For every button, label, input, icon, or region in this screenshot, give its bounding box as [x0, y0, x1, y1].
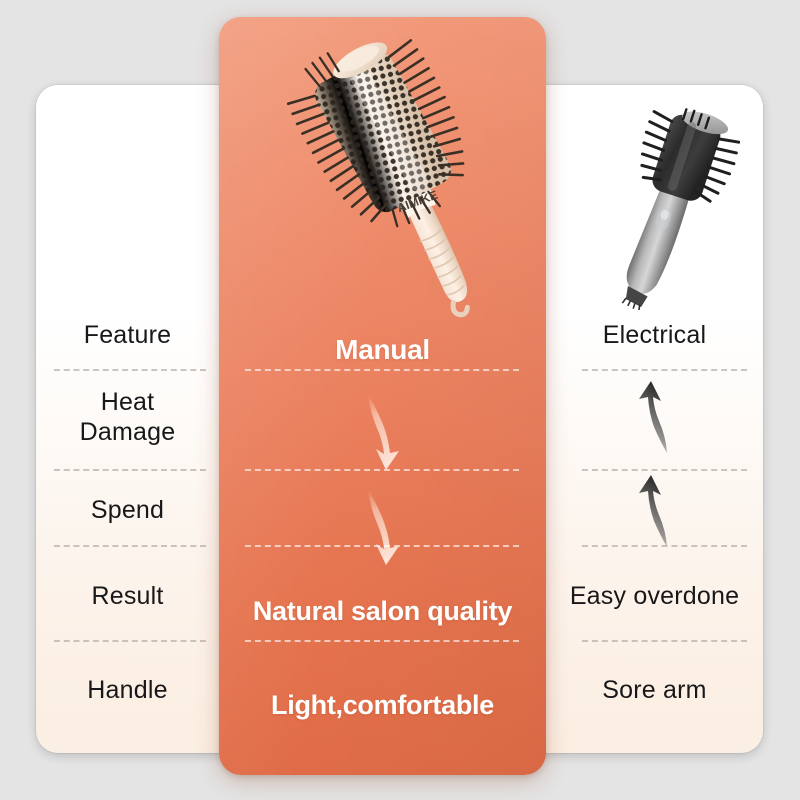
- round-thermal-hair-brush-image: AIMIKE: [281, 17, 521, 327]
- separator-right-4: [582, 640, 747, 642]
- separator-left-2: [54, 469, 206, 471]
- separator-left-3: [54, 545, 206, 547]
- arrow-up-icon-heat-damage: [546, 377, 763, 457]
- row-value-center-result: Natural salon quality: [219, 586, 546, 636]
- row-value-center-handle: Light,comfortable: [219, 680, 546, 730]
- separator-center-3: [245, 545, 519, 547]
- row-value-right-handle: Sore arm: [546, 665, 763, 715]
- row-label-result: Result: [36, 571, 219, 621]
- electric-hot-air-brush-image: [600, 95, 740, 310]
- row-value-center-feature: Manual: [219, 320, 546, 380]
- row-label-heat-damage: Heat Damage: [36, 377, 219, 457]
- row-label-feature: Feature: [36, 305, 219, 365]
- comparison-infographic: Feature Heat Damage Spend Result Handle …: [0, 0, 800, 800]
- separator-left-4: [54, 640, 206, 642]
- separator-right-2: [582, 469, 747, 471]
- arrow-down-icon-spend: [219, 487, 546, 567]
- row-value-right-feature: Electrical: [546, 305, 763, 365]
- separator-center-1: [245, 369, 519, 371]
- arrow-up-icon-spend: [546, 471, 763, 551]
- arrow-down-icon-heat-damage: [219, 392, 546, 472]
- separator-right-1: [582, 369, 747, 371]
- row-label-handle: Handle: [36, 665, 219, 715]
- row-value-right-result: Easy overdone: [546, 571, 763, 621]
- highlighted-product-column: AIMIKE Manual: [219, 17, 546, 775]
- separator-center-4: [245, 640, 519, 642]
- row-label-spend: Spend: [36, 485, 219, 535]
- separator-right-3: [582, 545, 747, 547]
- separator-center-2: [245, 469, 519, 471]
- separator-left-1: [54, 369, 206, 371]
